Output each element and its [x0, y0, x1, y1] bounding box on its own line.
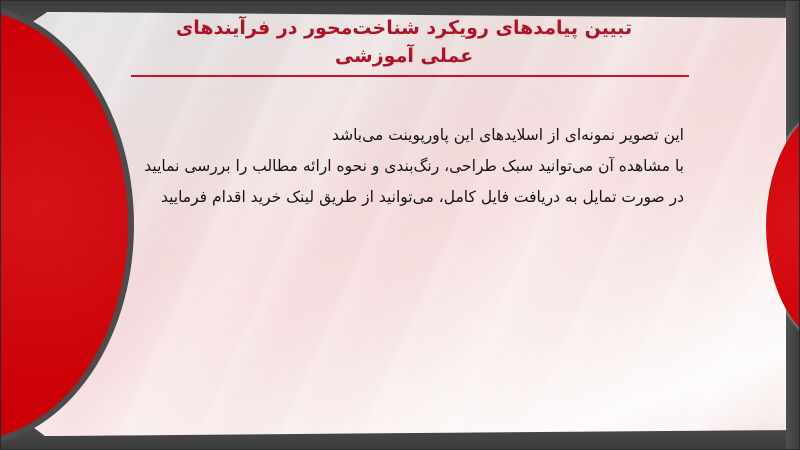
title-underline-rule [131, 75, 689, 77]
slide-title: تبیین پیامدهای رویکرد شناخت‌محور در فرآی… [104, 14, 704, 70]
presentation-slide: تبیین پیامدهای رویکرد شناخت‌محور در فرآی… [0, 0, 800, 450]
body-line-1: این تصویر نمونه‌ای از اسلایدهای این پاور… [64, 120, 684, 151]
body-line-2: با مشاهده آن می‌توانید سبک طراحی، رنگ‌بن… [64, 151, 684, 182]
body-line-3: در صورت تمایل به دریافت فایل کامل، می‌تو… [64, 182, 684, 213]
slide-body-text: این تصویر نمونه‌ای از اسلایدهای این پاور… [64, 120, 684, 213]
slide-title-line-2: عملی آموزشی [104, 42, 704, 70]
slide-title-line-1: تبیین پیامدهای رویکرد شناخت‌محور در فرآی… [104, 14, 704, 42]
